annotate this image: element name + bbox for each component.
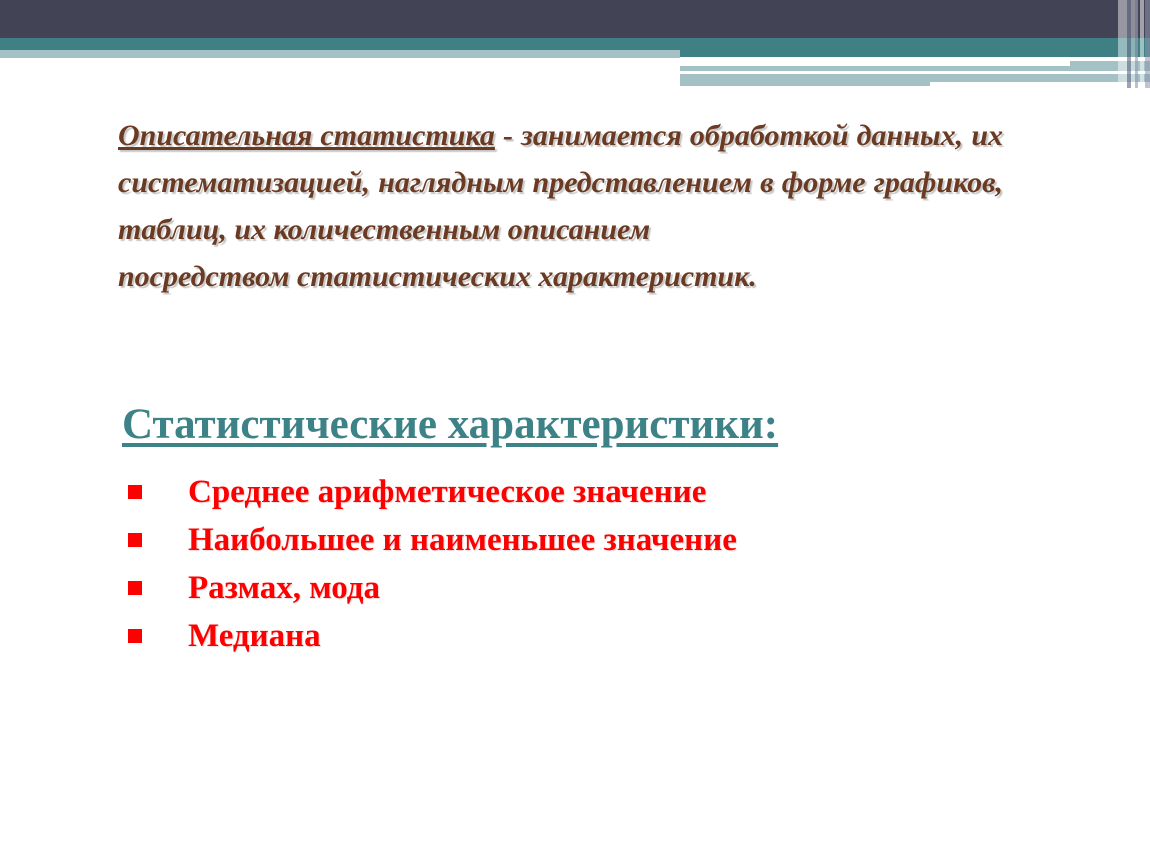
list-item: Размах, мода — [128, 564, 1028, 612]
square-bullet-icon — [128, 533, 142, 547]
list-item-label: Среднее арифметическое значение — [188, 473, 706, 511]
square-bullet-icon — [128, 629, 142, 643]
header-dark-band — [0, 0, 1150, 38]
square-bullet-icon — [128, 581, 142, 595]
header-light-band-right-upper-notch — [680, 61, 1070, 66]
characteristics-list: Среднее арифметическое значение Наибольш… — [128, 468, 1028, 660]
header-light-band-left — [0, 50, 680, 58]
slide-header-decoration — [0, 0, 1150, 110]
square-bullet-icon — [128, 485, 142, 499]
header-stripe-6 — [1145, 0, 1150, 88]
header-stripe-1 — [1118, 0, 1127, 88]
header-light-band-right-lower-notch — [930, 82, 1150, 86]
definition-paragraph: Описательная статистика - занимается обр… — [118, 112, 1003, 300]
definition-last-line: посредством статистических характеристик… — [118, 253, 1003, 300]
section-heading: Статистические характеристики: — [122, 400, 778, 450]
header-stripe-4 — [1135, 0, 1138, 88]
header-teal-band-right — [680, 38, 1150, 57]
list-item-label: Размах, мода — [188, 569, 380, 607]
list-item: Медиана — [128, 612, 1028, 660]
list-item: Среднее арифметическое значение — [128, 468, 1028, 516]
list-item-label: Наибольшее и наименьшее значение — [188, 521, 737, 559]
header-teal-band-left — [0, 38, 680, 50]
list-item-label: Медиана — [188, 617, 321, 655]
presentation-slide: Описательная статистика - занимается обр… — [0, 0, 1150, 864]
definition-lead-term: Описательная статистика — [118, 119, 495, 152]
list-item: Наибольшее и наименьшее значение — [128, 516, 1028, 564]
header-stripe-5 — [1140, 0, 1144, 88]
